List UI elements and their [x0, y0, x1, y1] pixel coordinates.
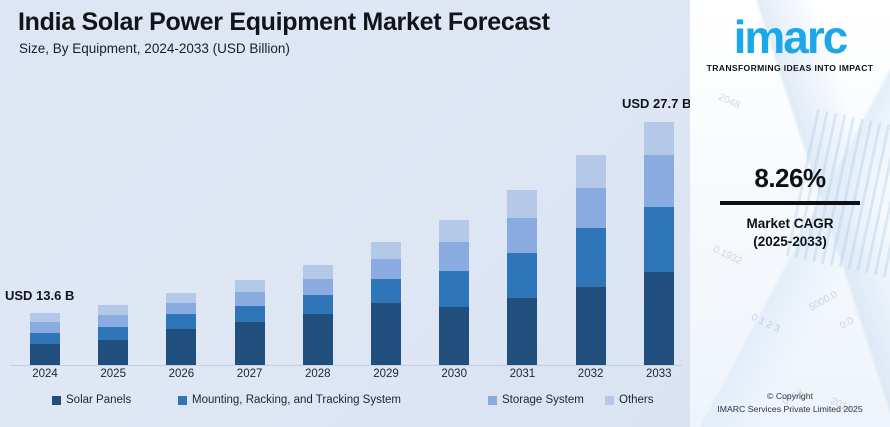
- x-axis-labels: 2024202520262027202820292030203120322033: [0, 368, 690, 388]
- cagr-divider: [720, 201, 860, 205]
- bar-segment-solar-2024: [30, 344, 60, 365]
- callout-start-value: USD 13.6 B: [5, 288, 74, 303]
- bar-2030: [439, 220, 469, 365]
- cagr-label: Market CAGR: [690, 214, 890, 234]
- bar-segment-others-2029: [371, 242, 401, 259]
- legend-label: Storage System: [502, 394, 584, 406]
- bar-segment-solar-2025: [98, 340, 128, 365]
- legend-item-mounting-racking-and-tracking-system[interactable]: Mounting, Racking, and Tracking System: [178, 394, 401, 406]
- bar-segment-storage-2032: [576, 188, 606, 228]
- bar-segment-mounting-2030: [439, 271, 469, 307]
- legend-item-others[interactable]: Others: [605, 394, 654, 406]
- bar-2027: [235, 280, 265, 365]
- logo-tagline: TRANSFORMING IDEAS INTO IMPACT: [690, 63, 890, 73]
- x-axis-label-2033: 2033: [629, 368, 689, 380]
- chart-legend: Solar PanelsMounting, Racking, and Track…: [0, 394, 690, 418]
- bar-segment-storage-2028: [303, 279, 333, 295]
- brand-panel: 0.19325000.00 1 2 30.0204807682014 imarc…: [690, 0, 890, 427]
- legend-label: Others: [619, 394, 654, 406]
- bar-segment-solar-2031: [507, 298, 537, 365]
- imarc-logo: imarc TRANSFORMING IDEAS INTO IMPACT: [690, 14, 890, 73]
- chart-panel: India Solar Power Equipment Market Forec…: [0, 0, 690, 427]
- bar-segment-others-2030: [439, 220, 469, 242]
- bar-2033: [644, 122, 674, 365]
- legend-swatch-icon: [178, 396, 187, 405]
- bar-segment-solar-2026: [166, 329, 196, 365]
- legend-swatch-icon: [488, 396, 497, 405]
- bar-segment-storage-2030: [439, 242, 469, 271]
- bar-segment-mounting-2024: [30, 333, 60, 344]
- legend-label: Mounting, Racking, and Tracking System: [192, 394, 401, 406]
- plot-area: [0, 0, 690, 366]
- x-axis-label-2032: 2032: [561, 368, 621, 380]
- cagr-period: (2025-2033): [690, 234, 890, 249]
- bar-segment-others-2025: [98, 305, 128, 315]
- x-axis-label-2030: 2030: [424, 368, 484, 380]
- bar-segment-solar-2027: [235, 322, 265, 365]
- legend-item-solar-panels[interactable]: Solar Panels: [52, 394, 131, 406]
- copyright-notice: © Copyright IMARC Services Private Limit…: [690, 390, 890, 416]
- copyright-line-2: IMARC Services Private Limited 2025: [690, 403, 890, 416]
- bar-2028: [303, 265, 333, 365]
- bar-segment-mounting-2028: [303, 295, 333, 314]
- legend-swatch-icon: [52, 396, 61, 405]
- bar-segment-solar-2028: [303, 314, 333, 365]
- bar-2029: [371, 242, 401, 365]
- bar-segment-solar-2029: [371, 303, 401, 365]
- bar-segment-mounting-2025: [98, 327, 128, 340]
- bar-2031: [507, 190, 537, 365]
- callout-end-value: USD 27.7 B: [622, 96, 691, 111]
- bar-segment-others-2033: [644, 122, 674, 155]
- x-axis-label-2026: 2026: [151, 368, 211, 380]
- bar-segment-mounting-2026: [166, 314, 196, 329]
- legend-swatch-icon: [605, 396, 614, 405]
- bar-segment-storage-2025: [98, 315, 128, 327]
- bar-segment-others-2028: [303, 265, 333, 279]
- bar-segment-storage-2027: [235, 292, 265, 306]
- bar-2025: [98, 305, 128, 365]
- bar-segment-solar-2033: [644, 272, 674, 365]
- legend-label: Solar Panels: [66, 394, 131, 406]
- bar-segment-mounting-2033: [644, 207, 674, 272]
- logo-wordmark: imarc: [734, 14, 847, 60]
- bar-segment-others-2027: [235, 280, 265, 292]
- bar-segment-storage-2031: [507, 218, 537, 253]
- bar-2026: [166, 293, 196, 365]
- bar-2032: [576, 155, 606, 365]
- bar-segment-others-2031: [507, 190, 537, 218]
- cagr-value: 8.26%: [690, 163, 890, 194]
- chart-screenshot: India Solar Power Equipment Market Forec…: [0, 0, 890, 427]
- bar-segment-mounting-2031: [507, 253, 537, 298]
- bar-segment-storage-2029: [371, 259, 401, 279]
- bar-segment-mounting-2029: [371, 279, 401, 303]
- bar-segment-mounting-2027: [235, 306, 265, 322]
- legend-item-storage-system[interactable]: Storage System: [488, 394, 584, 406]
- x-axis-label-2029: 2029: [356, 368, 416, 380]
- bar-2024: [30, 313, 60, 365]
- x-axis-label-2027: 2027: [220, 368, 280, 380]
- bar-segment-mounting-2032: [576, 228, 606, 287]
- bar-segment-storage-2026: [166, 303, 196, 314]
- bar-segment-solar-2032: [576, 287, 606, 365]
- bar-segment-storage-2024: [30, 322, 60, 333]
- x-axis-label-2028: 2028: [288, 368, 348, 380]
- copyright-line-1: © Copyright: [690, 390, 890, 403]
- bar-segment-solar-2030: [439, 307, 469, 365]
- bar-segment-others-2024: [30, 313, 60, 322]
- bar-segment-others-2026: [166, 293, 196, 303]
- cagr-block: 8.26% Market CAGR (2025-2033): [690, 163, 890, 249]
- bar-segment-storage-2033: [644, 155, 674, 207]
- x-axis-label-2024: 2024: [15, 368, 75, 380]
- bar-segment-others-2032: [576, 155, 606, 188]
- x-axis-label-2031: 2031: [492, 368, 552, 380]
- axis-baseline: [10, 365, 682, 366]
- x-axis-label-2025: 2025: [83, 368, 143, 380]
